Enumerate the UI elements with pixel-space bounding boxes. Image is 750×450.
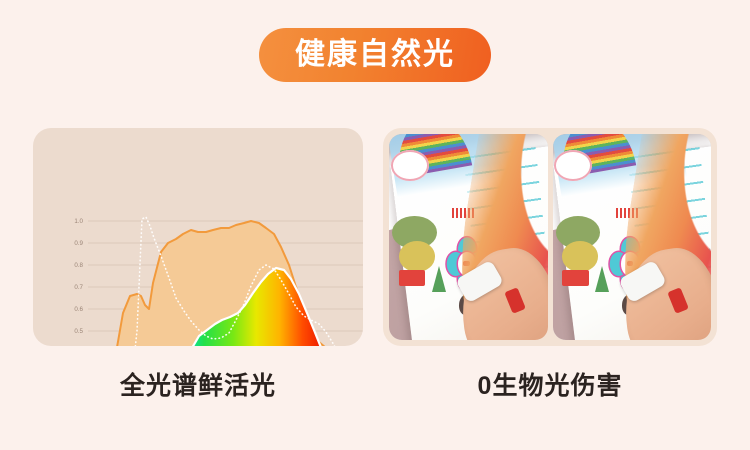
svg-text:0.8: 0.8 <box>74 262 83 269</box>
svg-text:0.7: 0.7 <box>74 284 83 291</box>
truck-drawing <box>562 270 589 286</box>
spectrum-chart: 0.0 0.1 0.2 0.3 0.4 0.5 0.6 0.7 0.8 0.9 … <box>33 128 363 346</box>
truck-drawing <box>399 270 426 286</box>
spectrum-chart-card: 0.0 0.1 0.2 0.3 0.4 0.5 0.6 0.7 0.8 0.9 … <box>33 128 363 346</box>
spectrum-chart-svg: 0.0 0.1 0.2 0.3 0.4 0.5 0.6 0.7 0.8 0.9 … <box>33 128 363 346</box>
caption-right: 0生物光伤害 <box>383 366 717 402</box>
svg-text:0.9: 0.9 <box>74 240 83 247</box>
bush-drawing-2 <box>399 241 435 272</box>
tree-drawing <box>432 266 446 292</box>
svg-text:1.0: 1.0 <box>74 218 83 225</box>
promo-banner: 健康自然光 <box>0 0 750 450</box>
feature-panels: 0.0 0.1 0.2 0.3 0.4 0.5 0.6 0.7 0.8 0.9 … <box>0 128 750 358</box>
svg-text:0.6: 0.6 <box>74 306 83 313</box>
svg-text:0.5: 0.5 <box>74 328 83 335</box>
cloud-drawing <box>391 150 429 181</box>
photo-right-child-drawing <box>553 134 712 340</box>
photo-left-child-drawing <box>389 134 548 340</box>
tree-drawing <box>595 266 609 292</box>
caption-left: 全光谱鲜活光 <box>33 366 363 402</box>
chart-y-ticklabels: 0.0 0.1 0.2 0.3 0.4 0.5 0.6 0.7 0.8 0.9 … <box>74 218 83 346</box>
photo-pair-card <box>383 128 717 346</box>
headline-badge: 健康自然光 <box>259 28 491 82</box>
headline-text: 健康自然光 <box>295 40 455 70</box>
